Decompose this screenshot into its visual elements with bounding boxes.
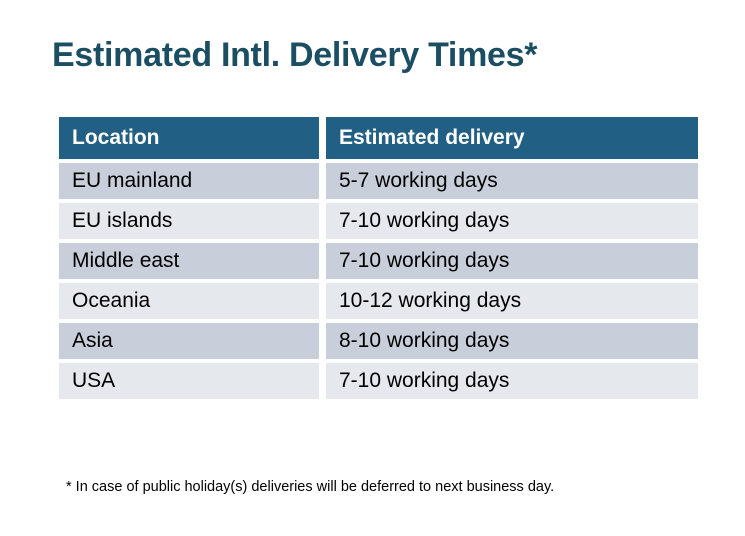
- table-body: EU mainland 5-7 working days EU islands …: [59, 163, 698, 399]
- column-header-estimated-delivery: Estimated delivery: [326, 117, 698, 159]
- delivery-times-page: Estimated Intl. Delivery Times* Location…: [0, 0, 745, 536]
- table-row: USA 7-10 working days: [59, 363, 698, 399]
- cell-delivery: 8-10 working days: [326, 323, 698, 359]
- table-row: Asia 8-10 working days: [59, 323, 698, 359]
- cell-delivery: 5-7 working days: [326, 163, 698, 199]
- cell-delivery: 7-10 working days: [326, 363, 698, 399]
- cell-delivery: 10-12 working days: [326, 283, 698, 319]
- estimated-delivery-table: Location Estimated delivery EU mainland …: [52, 113, 705, 403]
- table-row: EU mainland 5-7 working days: [59, 163, 698, 199]
- table-row: EU islands 7-10 working days: [59, 203, 698, 239]
- cell-location: EU islands: [59, 203, 319, 239]
- cell-location: Middle east: [59, 243, 319, 279]
- table-header: Location Estimated delivery: [59, 117, 698, 159]
- footnote-text: * In case of public holiday(s) deliverie…: [66, 479, 554, 495]
- cell-delivery: 7-10 working days: [326, 203, 698, 239]
- table-header-row: Location Estimated delivery: [59, 117, 698, 159]
- page-title: Estimated Intl. Delivery Times*: [52, 36, 537, 75]
- column-header-location: Location: [59, 117, 319, 159]
- table-row: Oceania 10-12 working days: [59, 283, 698, 319]
- cell-location: Asia: [59, 323, 319, 359]
- cell-location: EU mainland: [59, 163, 319, 199]
- cell-location: USA: [59, 363, 319, 399]
- cell-location: Oceania: [59, 283, 319, 319]
- cell-delivery: 7-10 working days: [326, 243, 698, 279]
- table-row: Middle east 7-10 working days: [59, 243, 698, 279]
